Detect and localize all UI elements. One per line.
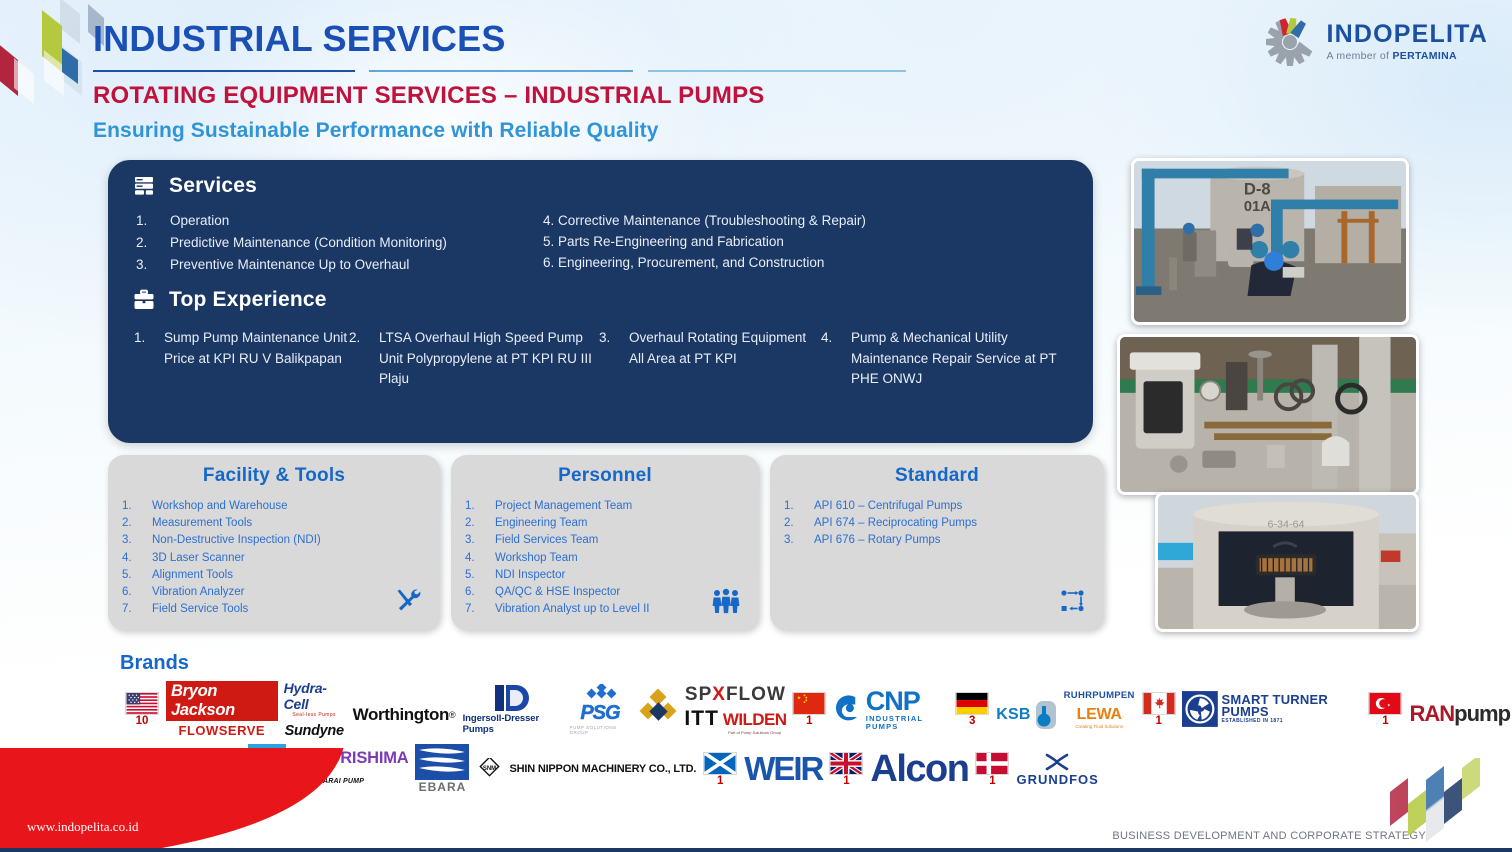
photo-rotating-equipment-valves	[1117, 334, 1419, 495]
flag-count: 3	[969, 716, 975, 727]
svg-text:D-8: D-8	[1244, 181, 1271, 199]
services-title: Services	[169, 174, 257, 198]
list-item: 2. LTSA Overhaul High Speed Pump Unit Po…	[349, 328, 599, 390]
flag-count: 1	[1156, 716, 1162, 727]
brand-logo-worthington: Worthington®	[353, 705, 456, 725]
list-item-label: Workshop Team	[495, 550, 578, 567]
list-item: 2.API 674 – Reciprocating Pumps	[784, 515, 1104, 532]
brand-wordmark: Hydra-Cell	[284, 680, 345, 712]
list-item-label: API 676 – Rotary Pumps	[814, 532, 941, 549]
brand-tagline: ESTABLISHED IN 1871	[1222, 718, 1283, 724]
list-item-number: 3.	[784, 532, 814, 549]
list-item-number: 2.	[784, 515, 814, 532]
services-header: Services	[132, 174, 257, 198]
list-item-number: 6.	[122, 584, 152, 601]
list-item-label: Alignment Tools	[152, 567, 233, 584]
list-item-label: API 674 – Reciprocating Pumps	[814, 515, 977, 532]
list-item-number: 2.	[136, 232, 170, 253]
list-item: 4. Corrective Maintenance (Troubleshooti…	[543, 210, 1023, 231]
page-subtitle: ROTATING EQUIPMENT SERVICES – INDUSTRIAL…	[93, 82, 765, 110]
list-item-number: 1.	[122, 498, 152, 515]
list-item-label: Project Management Team	[495, 498, 632, 515]
list-item-label: Vibration Analyst up to Level II	[495, 601, 650, 618]
flag-usa: 10	[125, 692, 159, 727]
logo-tagline-prefix: A member of	[1326, 50, 1392, 62]
list-item-number: 1.	[134, 328, 164, 390]
brand-wordmark: KSB	[996, 706, 1030, 724]
brands-row-1: 10 Bryon Jackson FLOWSERVE Hydra-Cell Se…	[122, 683, 1512, 735]
brand-wordmark: CNP	[866, 688, 920, 715]
list-item-label: Sump Pump Maintenance Unit Price at KPI …	[164, 328, 349, 390]
list-item: 5.Alignment Tools	[122, 567, 440, 584]
brand-logo-hydracell-sundyne: Hydra-Cell Seal-less Pumps Sundyne	[284, 680, 345, 739]
brand-wordmark-suffix: pump	[1454, 701, 1510, 726]
list-item-number: 4.	[821, 328, 851, 390]
list-item-number: 4.	[465, 550, 495, 567]
list-item: 3.API 676 – Rotary Pumps	[784, 532, 1104, 549]
brand-logo-cnp: CNP INDUSTRIAL PUMPS	[832, 688, 949, 730]
top-experience-title: Top Experience	[169, 288, 327, 312]
china-flag-icon	[792, 692, 826, 715]
list-item: 2. Predictive Maintenance (Condition Mon…	[136, 232, 556, 253]
flag-count: 10	[136, 716, 149, 727]
list-item: 7.Field Service Tools	[122, 601, 440, 618]
brand-logo-diamond-mark	[639, 689, 677, 729]
list-item-number: 1.	[784, 498, 814, 515]
list-item-number: 2.	[465, 515, 495, 532]
list-item: 3. Preventive Maintenance Up to Overhaul	[136, 254, 556, 275]
pertamina-pinwheel-icon	[1263, 16, 1317, 68]
list-item-number: 2.	[349, 328, 379, 390]
brand-wordmark: Bryon Jackson	[166, 681, 278, 721]
list-item-label: Vibration Analyzer	[152, 584, 244, 601]
brand-wordmark: SMART TURNER PUMPS	[1222, 694, 1363, 718]
card-title: Facility & Tools	[108, 455, 440, 487]
list-item-number: 4.	[122, 550, 152, 567]
list-item-number: 7.	[122, 601, 152, 618]
server-rack-icon	[132, 174, 156, 198]
brand-wordmark: WILDEN	[723, 710, 786, 730]
list-item-label: 3D Laser Scanner	[152, 550, 245, 567]
list-item-label: Predictive Maintenance (Condition Monito…	[170, 232, 556, 253]
brand-wordmark: Worthington	[353, 705, 449, 725]
brand-tagline: Part of Pump Solutions Group	[728, 730, 781, 735]
usa-flag-icon	[125, 692, 159, 715]
logo-tagline: A member of PERTAMINA	[1326, 51, 1488, 62]
flag-china: 1	[792, 692, 826, 727]
brand-tagline: INDUSTRIAL PUMPS	[866, 715, 949, 730]
brand-logo-ranpump: RANpump	[1409, 701, 1510, 727]
page-tagline: Ensuring Sustainable Performance with Re…	[93, 119, 659, 143]
germany-flag-icon	[955, 692, 989, 715]
list-item: 1.API 610 – Centrifugal Pumps	[784, 498, 1104, 515]
svg-text:01A: 01A	[1244, 199, 1271, 215]
title-rule-tertiary	[648, 70, 906, 72]
list-item-number: 5.	[465, 567, 495, 584]
turkey-flag-icon	[1368, 692, 1402, 715]
spx-diamond-icon	[639, 689, 677, 729]
list-item-label: Pump & Mechanical Utility Maintenance Re…	[851, 328, 1061, 390]
brand-wordmark: RANpump	[1409, 701, 1510, 727]
list-item-label: Preventive Maintenance Up to Overhaul	[170, 254, 556, 275]
services-experience-panel: Services 1. Operation 2. Predictive Main…	[108, 160, 1093, 443]
card-list: 1.Workshop and Warehouse 2.Measurement T…	[108, 487, 440, 618]
brand-tagline: Seal-less Pumps	[292, 712, 336, 718]
list-item-label: LTSA Overhaul High Speed Pump Unit Polyp…	[379, 328, 599, 390]
title-rule-primary	[93, 70, 355, 72]
list-item-label: Overhaul Rotating Equipment All Area at …	[629, 328, 821, 390]
brand-logo-ksb: KSB	[996, 700, 1057, 730]
list-item-label: Field Services Team	[495, 532, 598, 549]
list-item: 4.3D Laser Scanner	[122, 550, 440, 567]
psg-diamonds-icon	[578, 684, 622, 702]
card-title: Personnel	[451, 455, 759, 487]
flag-germany: 3	[955, 692, 989, 727]
card-title: Standard	[770, 455, 1104, 487]
list-item-label: Engineering Team	[495, 515, 588, 532]
list-item: 5.NDI Inspector	[465, 567, 759, 584]
corner-decoration-mark	[0, 0, 108, 108]
list-item-label: QA/QC & HSE Inspector	[495, 584, 620, 601]
tools-wrench-screwdriver-icon	[394, 586, 422, 614]
brand-logo-ruhrpumpen-lewa: RUHRPUMPEN LEWA Creating Fluid Solutions	[1064, 690, 1135, 729]
brand-tagline: PUMP SOLUTIONS GROUP	[569, 725, 630, 735]
list-item-number: 1.	[465, 498, 495, 515]
list-item-label: Non-Destructive Inspection (NDI)	[152, 532, 321, 549]
brand-logo-smart-turner-pumps: SMART TURNER PUMPS ESTABLISHED IN 1871	[1182, 689, 1363, 729]
cnp-mark-icon	[832, 692, 862, 726]
list-item-number: 7.	[465, 601, 495, 618]
list-item: 1. Sump Pump Maintenance Unit Price at K…	[134, 328, 349, 390]
list-item-number: 3.	[599, 328, 629, 390]
brand-wordmark: LEWA	[1077, 706, 1122, 724]
footer-bottom-bar	[0, 848, 1512, 852]
title-rule-secondary	[369, 70, 633, 72]
brand-wordmark-text: RAN	[1409, 701, 1454, 726]
svg-text:6-34-64: 6-34-64	[1268, 519, 1305, 531]
list-item: 4.Workshop Team	[465, 550, 759, 567]
card-facility-tools: Facility & Tools 1.Workshop and Warehous…	[108, 455, 440, 630]
list-item: 1.Project Management Team	[465, 498, 759, 515]
card-list: 1.API 610 – Centrifugal Pumps 2.API 674 …	[770, 487, 1104, 550]
card-standard: Standard 1.API 610 – Centrifugal Pumps 2…	[770, 455, 1104, 630]
list-item-label: NDI Inspector	[495, 567, 565, 584]
brand-wordmark: SPXFLOW	[685, 684, 786, 706]
footer-website-link[interactable]: www.indopelita.co.id	[27, 819, 138, 835]
list-item: 6. Engineering, Procurement, and Constru…	[543, 252, 1023, 273]
ksb-mark-icon	[1032, 700, 1058, 730]
smart-turner-impeller-icon	[1182, 689, 1218, 729]
top-experience-header: Top Experience	[132, 288, 327, 312]
list-item-number: 5.	[122, 567, 152, 584]
brand-tagline: Creating Fluid Solutions	[1075, 724, 1123, 729]
footer-decoration-mark	[1382, 758, 1492, 844]
brand-logo-psg: PSG PUMP SOLUTIONS GROUP	[569, 684, 630, 735]
list-item-label: API 610 – Centrifugal Pumps	[814, 498, 962, 515]
brands-title: Brands	[120, 652, 189, 675]
list-item: 1. Operation	[136, 210, 556, 231]
flag-count: 1	[806, 716, 812, 727]
list-item-label: Operation	[170, 210, 556, 231]
brand-wordmark: PSG	[580, 702, 619, 725]
photo-pump-site-tank: D-8 01A	[1131, 158, 1409, 325]
list-item: 6.Vibration Analyzer	[122, 584, 440, 601]
list-item-label: Workshop and Warehouse	[152, 498, 288, 515]
list-item: 3.Field Services Team	[465, 532, 759, 549]
logo-tagline-parent: PERTAMINA	[1393, 50, 1457, 62]
flag-count: 1	[1382, 716, 1388, 727]
list-item: 2.Engineering Team	[465, 515, 759, 532]
list-item-number: 3.	[122, 532, 152, 549]
card-personnel: Personnel 1.Project Management Team 2.En…	[451, 455, 759, 630]
list-item-label: Field Service Tools	[152, 601, 248, 618]
brand-logo-bryon-jackson-flowserve: Bryon Jackson FLOWSERVE	[166, 681, 278, 738]
list-item-number: 3.	[465, 532, 495, 549]
slide-root: INDUSTRIAL SERVICES ROTATING EQUIPMENT S…	[0, 0, 1512, 852]
flag-turkey: 1	[1368, 692, 1402, 727]
footer-department-label: BUSINESS DEVELOPMENT AND CORPORATE STRAT…	[1112, 830, 1426, 842]
ingersoll-dresser-mark-icon	[491, 683, 533, 713]
canada-flag-icon	[1142, 692, 1176, 715]
brand-wordmark: ITT	[684, 707, 719, 731]
list-item-number: 3.	[136, 254, 170, 275]
briefcase-icon	[132, 288, 156, 312]
list-item-label: Measurement Tools	[152, 515, 252, 532]
top-experience-list: 1. Sump Pump Maintenance Unit Price at K…	[134, 328, 1069, 390]
services-list-left: 1. Operation 2. Predictive Maintenance (…	[136, 210, 556, 276]
indopelita-logo: INDOPELITA A member of PERTAMINA	[1263, 14, 1488, 70]
brand-logo-spxflow-itt-wilden: SPXFLOW ITT WILDEN Part of Pump Solution…	[684, 684, 786, 735]
logo-wordmark: INDOPELITA	[1326, 22, 1488, 47]
list-item-number: 6.	[465, 584, 495, 601]
brand-wordmark: FLOWSERVE	[179, 723, 266, 738]
brand-wordmark: Sundyne	[285, 723, 344, 739]
people-group-icon	[711, 588, 741, 614]
flag-canada: 1	[1142, 692, 1176, 727]
brand-logo-ingersoll-dresser: Ingersoll-Dresser Pumps	[463, 683, 562, 735]
brand-wordmark: RUHRPUMPEN	[1064, 690, 1135, 701]
list-item: 2.Measurement Tools	[122, 515, 440, 532]
services-list-right: 4. Corrective Maintenance (Troubleshooti…	[543, 210, 1023, 273]
list-item-number: 1.	[136, 210, 170, 231]
list-item: 1.Workshop and Warehouse	[122, 498, 440, 515]
list-item: 3.Non-Destructive Inspection (NDI)	[122, 532, 440, 549]
workflow-nodes-icon	[1060, 588, 1086, 614]
list-item: 5. Parts Re-Engineering and Fabrication	[543, 231, 1023, 252]
list-item-number: 2.	[122, 515, 152, 532]
photo-pump-internal-impeller: 6-34-64	[1155, 492, 1419, 632]
list-item: 4. Pump & Mechanical Utility Maintenance…	[821, 328, 1061, 390]
brand-wordmark-text: SPXFLOW	[685, 684, 786, 705]
page-title: INDUSTRIAL SERVICES	[93, 18, 506, 60]
brand-wordmark: Ingersoll-Dresser Pumps	[463, 713, 562, 735]
list-item: 3. Overhaul Rotating Equipment All Area …	[599, 328, 821, 390]
